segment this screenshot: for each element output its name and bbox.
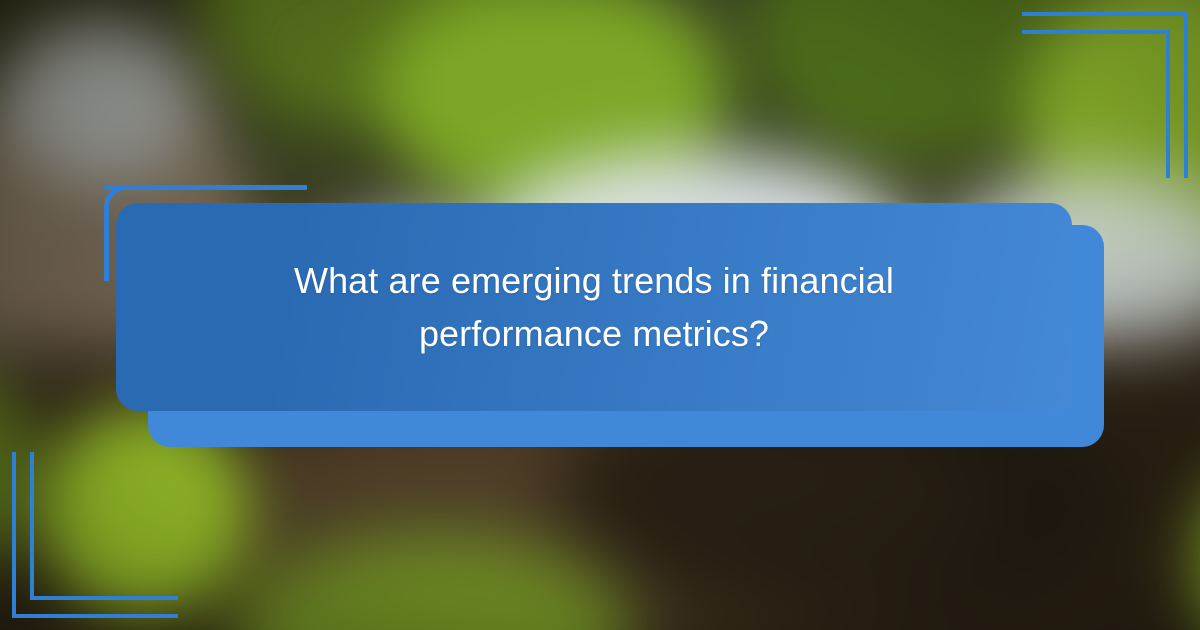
- question-card-stack: What are emerging trends in financial pe…: [104, 185, 1104, 447]
- question-text: What are emerging trends in financial pe…: [264, 254, 924, 361]
- question-card: What are emerging trends in financial pe…: [116, 203, 1072, 411]
